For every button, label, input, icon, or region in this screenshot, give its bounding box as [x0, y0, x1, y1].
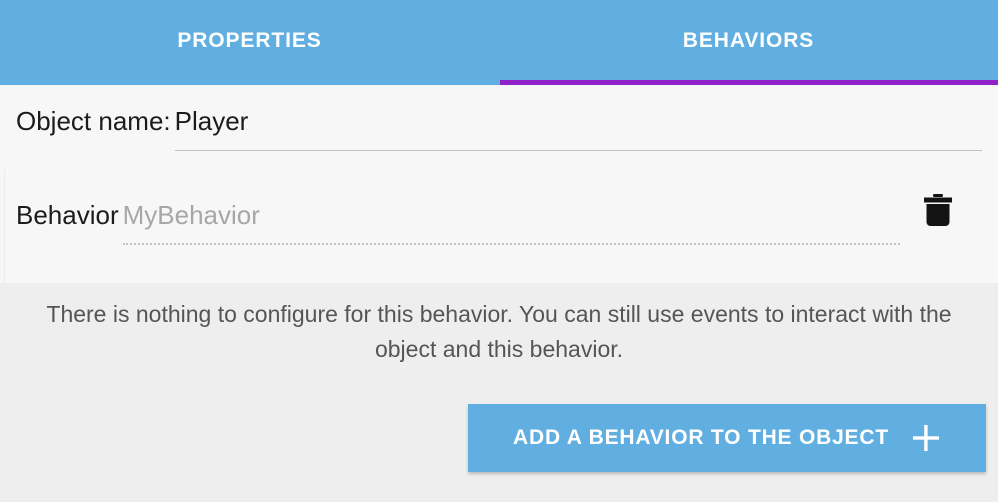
object-name-input[interactable]	[175, 105, 982, 137]
tab-behaviors[interactable]: BEHAVIORS	[499, 0, 998, 85]
object-name-field-wrap	[175, 105, 982, 137]
behavior-field-wrap	[123, 199, 900, 231]
behavior-label: Behavior	[0, 200, 119, 231]
tab-behaviors-label: BEHAVIORS	[683, 29, 814, 53]
behavior-content-area: There is nothing to configure for this b…	[0, 283, 998, 502]
behavior-name-underline	[123, 243, 900, 245]
tab-bar: PROPERTIES BEHAVIORS	[0, 0, 998, 85]
tab-properties-label: PROPERTIES	[177, 29, 321, 53]
plus-icon	[911, 423, 941, 453]
delete-behavior-button[interactable]	[918, 191, 958, 233]
object-name-row: Object name:	[0, 105, 998, 137]
empty-state-message: There is nothing to configure for this b…	[40, 297, 958, 367]
object-name-underline	[175, 150, 982, 151]
add-behavior-button-label: ADD A BEHAVIOR TO THE OBJECT	[513, 426, 889, 450]
trash-icon	[921, 193, 955, 232]
object-editor-panel: PROPERTIES BEHAVIORS Object name: Behavi…	[0, 0, 998, 502]
object-name-label: Object name:	[0, 106, 171, 137]
form-area: Object name: Behavior	[0, 85, 998, 283]
behavior-name-input[interactable]	[123, 199, 900, 231]
tab-properties[interactable]: PROPERTIES	[0, 0, 499, 85]
behavior-row: Behavior	[0, 199, 998, 231]
add-behavior-button[interactable]: ADD A BEHAVIOR TO THE OBJECT	[468, 404, 986, 472]
